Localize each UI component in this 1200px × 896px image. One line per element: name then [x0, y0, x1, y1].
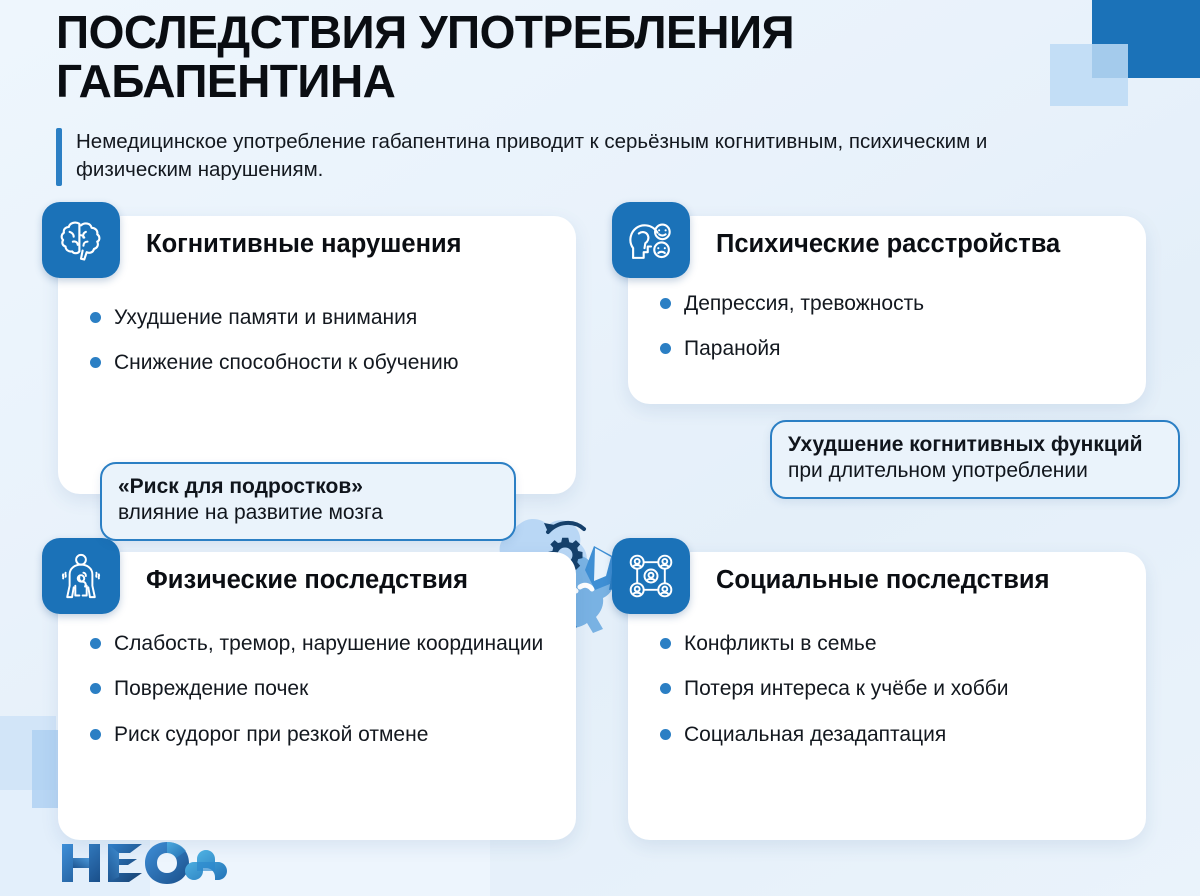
callout-rest-text: влияние на развитие мозга	[118, 501, 383, 524]
card-bullet-list: Слабость, тремор, нарушение координации …	[84, 630, 562, 766]
callout-teen-risk: «Риск для подростков» влияние на развити…	[100, 462, 516, 541]
callout-strong-text: «Риск для подростков»	[118, 475, 363, 498]
subtitle-block: Немедицинское употребление габапентина п…	[56, 128, 1056, 186]
human-body-icon	[42, 538, 120, 614]
list-item: Слабость, тремор, нарушение координации	[84, 630, 562, 657]
head-emotions-icon	[612, 202, 690, 278]
page-title: ПОСЛЕДСТВИЯ УПОТРЕБЛЕНИЯ ГАБАПЕНТИНА	[56, 8, 1056, 106]
card-social-consequences: Социальные последствия	[628, 552, 1146, 840]
card-cognitive-disorders: Когнитивные нарушения	[58, 216, 576, 494]
list-item: Повреждение почек	[84, 675, 562, 702]
callout-rest-text: при длительном употреблении	[788, 459, 1088, 482]
list-item: Снижение способности к обучению	[84, 349, 562, 376]
card-bullet-list: Депрессия, тревожность Паранойя	[654, 290, 1132, 381]
page-subtitle: Немедицинское употребление габапентина п…	[76, 128, 1006, 186]
infographic-root: ПОСЛЕДСТВИЯ УПОТРЕБЛЕНИЯ ГАБАПЕНТИНА Нем…	[0, 0, 1200, 896]
callout-long-term-use: Ухудшение когнитивных функций при длител…	[770, 420, 1180, 499]
card-title: Физические последствия	[146, 566, 468, 595]
brain-icon	[42, 202, 120, 278]
card-bullet-list: Ухудшение памяти и внимания Снижение спо…	[84, 304, 562, 395]
brand-logo[interactable]	[60, 840, 228, 886]
list-item: Потеря интереса к учёбе и хобби	[654, 675, 1132, 702]
list-item: Конфликты в семье	[654, 630, 1132, 657]
subtitle-accent-bar	[56, 128, 62, 186]
card-title: Социальные последствия	[716, 566, 1049, 595]
list-item: Паранойя	[654, 335, 1132, 362]
list-item: Ухудшение памяти и внимания	[84, 304, 562, 331]
list-item: Риск судорог при резкой отмене	[84, 721, 562, 748]
card-title: Когнитивные нарушения	[146, 230, 462, 259]
list-item: Социальная дезадаптация	[654, 721, 1132, 748]
callout-strong-text: Ухудшение когнитивных функций	[788, 433, 1143, 456]
card-physical-consequences: Физические последствия Слабость, тремор,…	[58, 552, 576, 840]
list-item: Депрессия, тревожность	[654, 290, 1132, 317]
card-psychiatric-disorders: Психические расстройства Депрессия, трев…	[628, 216, 1146, 404]
header: ПОСЛЕДСТВИЯ УПОТРЕБЛЕНИЯ ГАБАПЕНТИНА Нем…	[56, 8, 1056, 186]
card-title: Психические расстройства	[716, 230, 1060, 259]
people-network-icon	[612, 538, 690, 614]
card-bullet-list: Конфликты в семье Потеря интереса к учёб…	[654, 630, 1132, 766]
decor-square-top-right-light	[1050, 44, 1128, 106]
